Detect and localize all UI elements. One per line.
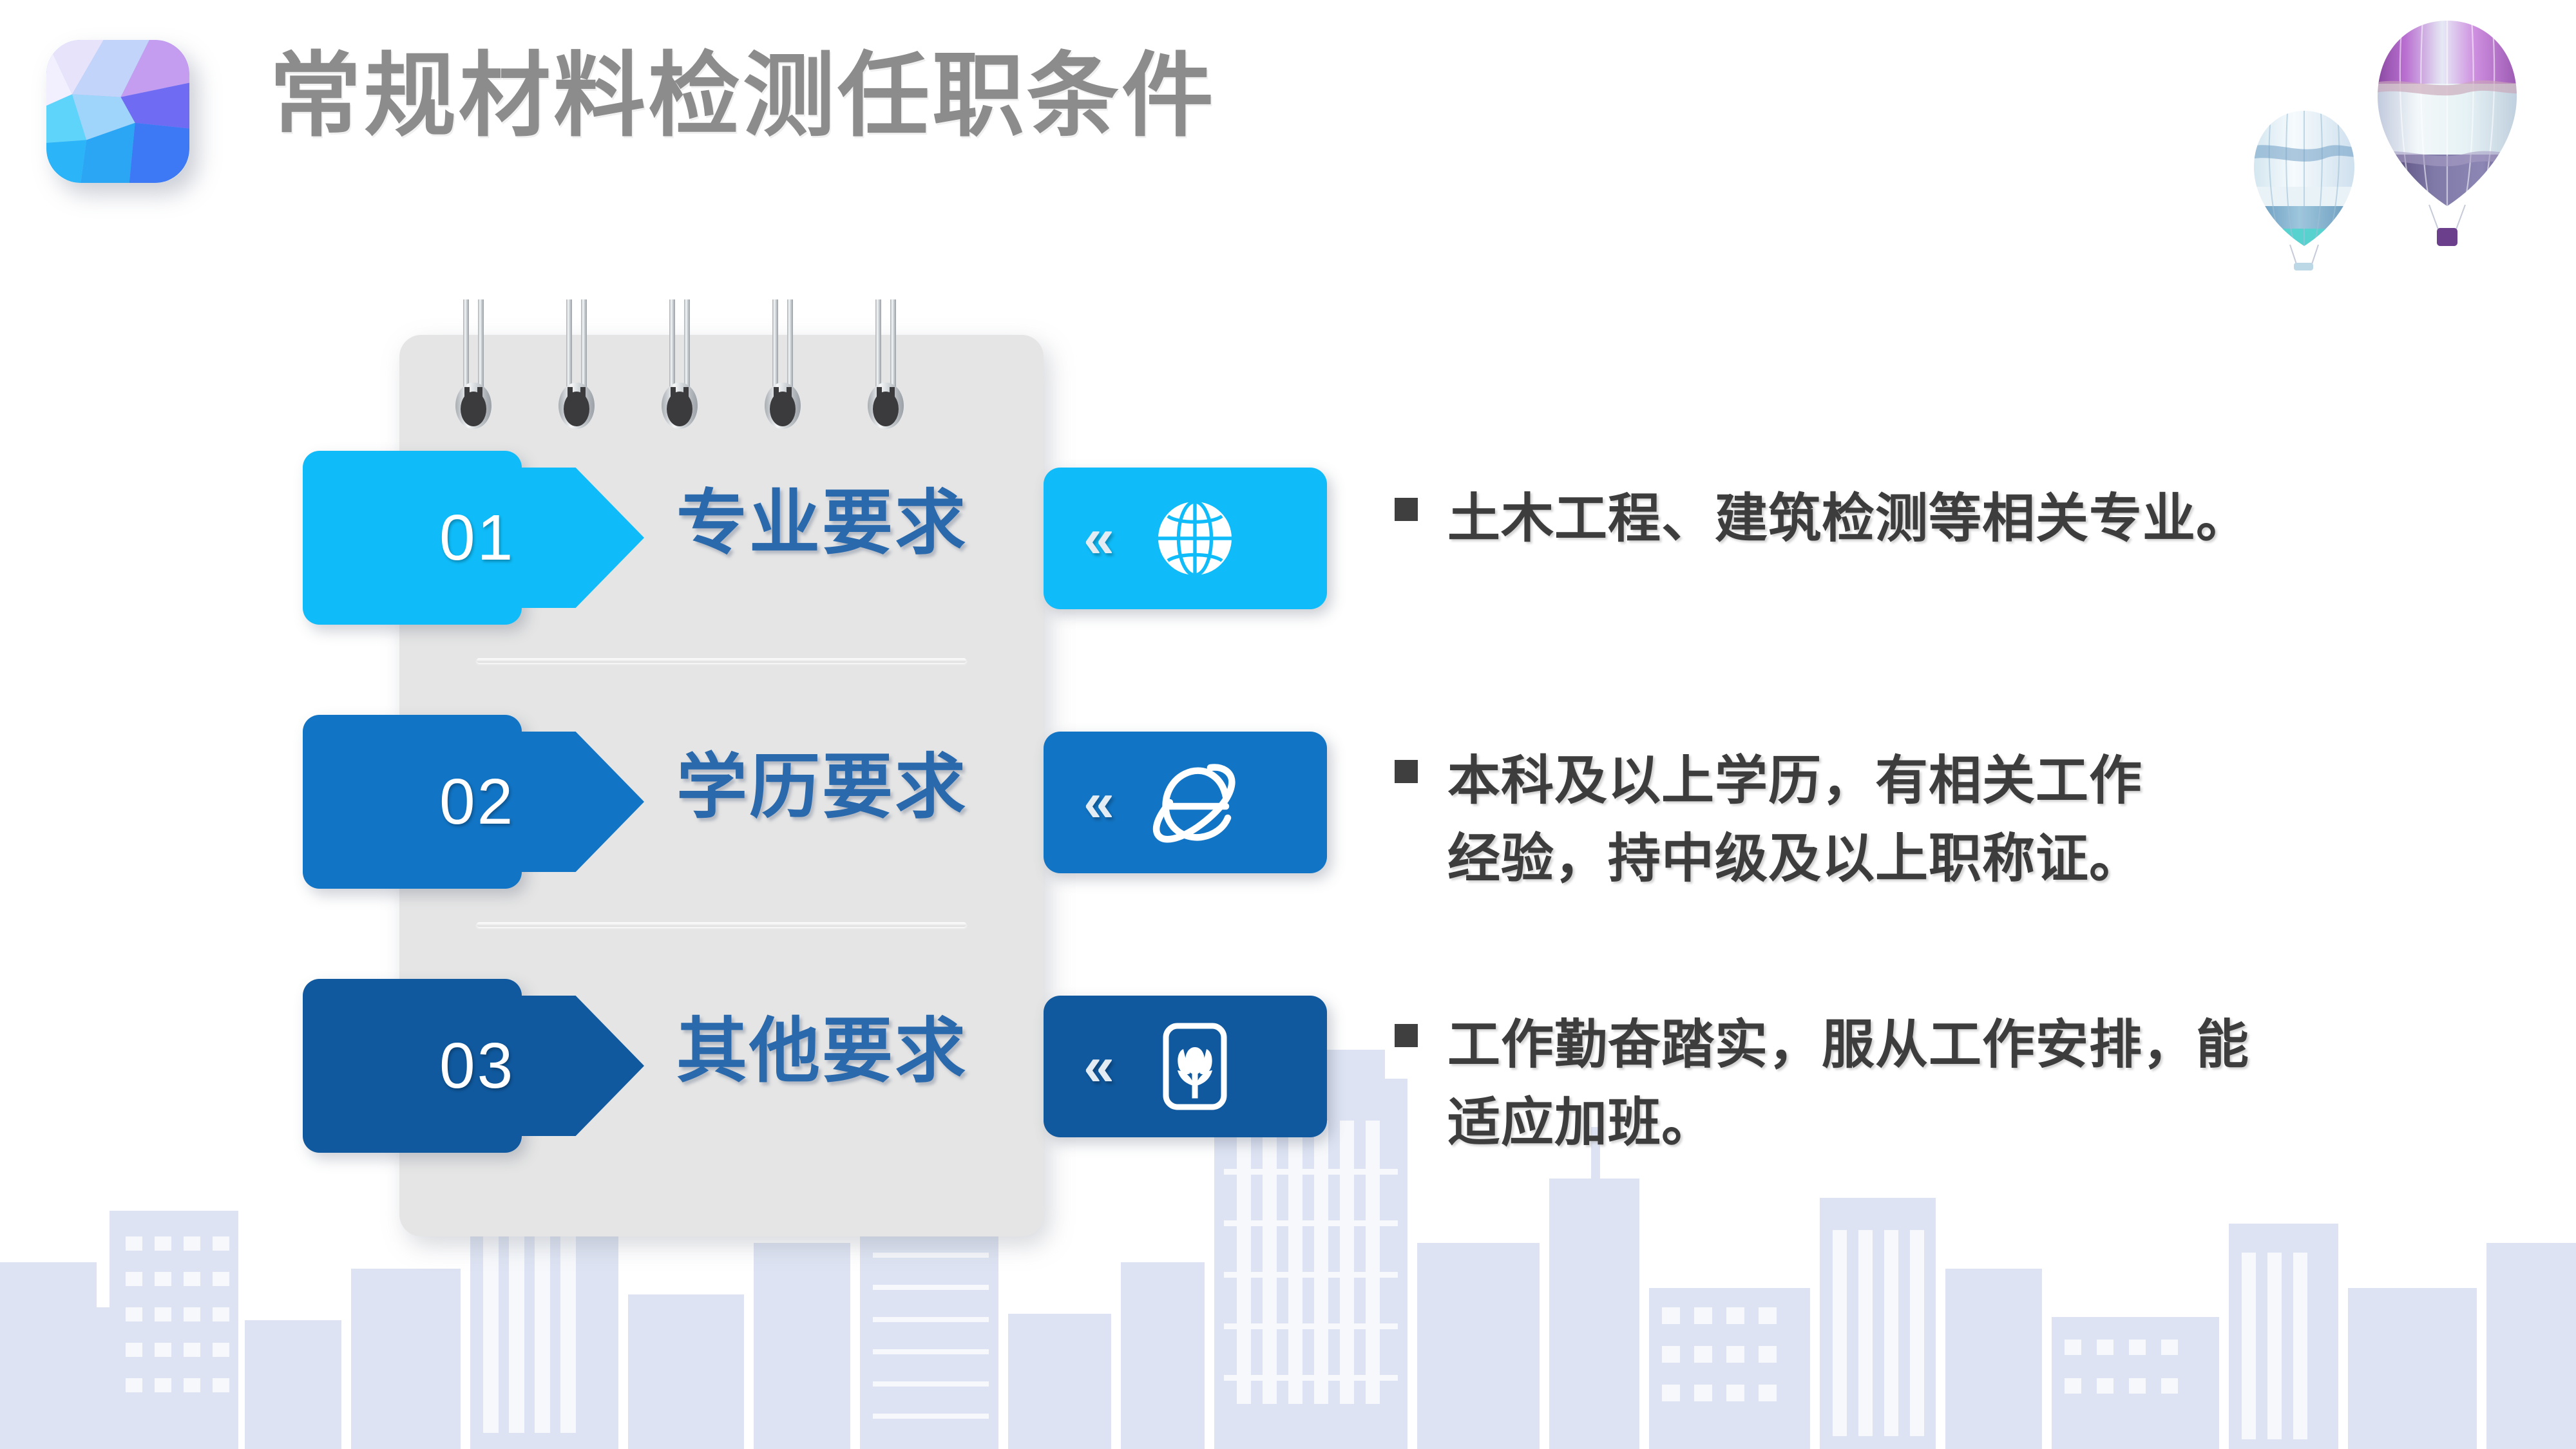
internet-explorer-e-icon xyxy=(1147,754,1243,851)
bullet-item-2: 本科及以上学历，有相关工作 经验，持中级及以上职称证。 xyxy=(1395,742,2425,898)
double-chevron-left-icon: « xyxy=(1083,775,1114,830)
bullet-item-1: 土木工程、建筑检测等相关专业。 xyxy=(1395,480,2425,558)
row-number-3: 03 xyxy=(439,1029,515,1103)
slide-canvas: 常规材料检测任职条件 xyxy=(0,0,2576,1449)
tulip-flower-icon xyxy=(1147,1018,1243,1115)
notepad-divider-2 xyxy=(477,922,966,927)
row-number-chip-1: 01 xyxy=(399,468,644,608)
spiral-binding-rings xyxy=(399,293,1044,460)
row-icon-panel-2[interactable]: « xyxy=(1044,732,1327,873)
bullet-square-icon xyxy=(1395,760,1418,783)
hot-air-balloons-decoration xyxy=(2222,0,2570,270)
bullet-text-3: 工作勤奋踏实，服从工作安排，能 适应加班。 xyxy=(1447,1006,2249,1162)
notepad-divider-1 xyxy=(477,658,966,663)
row-number-1: 01 xyxy=(439,501,515,575)
page-title: 常规材料检测任职条件 xyxy=(269,50,1216,142)
row-number-chip-3: 03 xyxy=(399,996,644,1136)
row-number-chip-2: 02 xyxy=(399,732,644,872)
bullet-item-3: 工作勤奋踏实，服从工作安排，能 适应加班。 xyxy=(1395,1006,2425,1162)
row-label-3: 其他要求 xyxy=(676,1016,968,1087)
row-label-1: 专业要求 xyxy=(676,488,968,559)
globe-icon xyxy=(1147,490,1243,587)
bullet-text-1: 土木工程、建筑检测等相关专业。 xyxy=(1447,480,2249,558)
double-chevron-left-icon: « xyxy=(1083,511,1114,566)
bullet-text-2: 本科及以上学历，有相关工作 经验，持中级及以上职称证。 xyxy=(1447,742,2142,898)
row-number-2: 02 xyxy=(439,765,515,839)
row-label-2: 学历要求 xyxy=(676,752,968,823)
bullet-square-icon xyxy=(1395,1024,1418,1047)
row-icon-panel-3[interactable]: « xyxy=(1044,996,1327,1137)
double-chevron-left-icon: « xyxy=(1083,1039,1114,1094)
polygon-gem-app-icon xyxy=(46,40,189,183)
row-icon-panel-1[interactable]: « xyxy=(1044,468,1327,609)
bullet-square-icon xyxy=(1395,498,1418,521)
